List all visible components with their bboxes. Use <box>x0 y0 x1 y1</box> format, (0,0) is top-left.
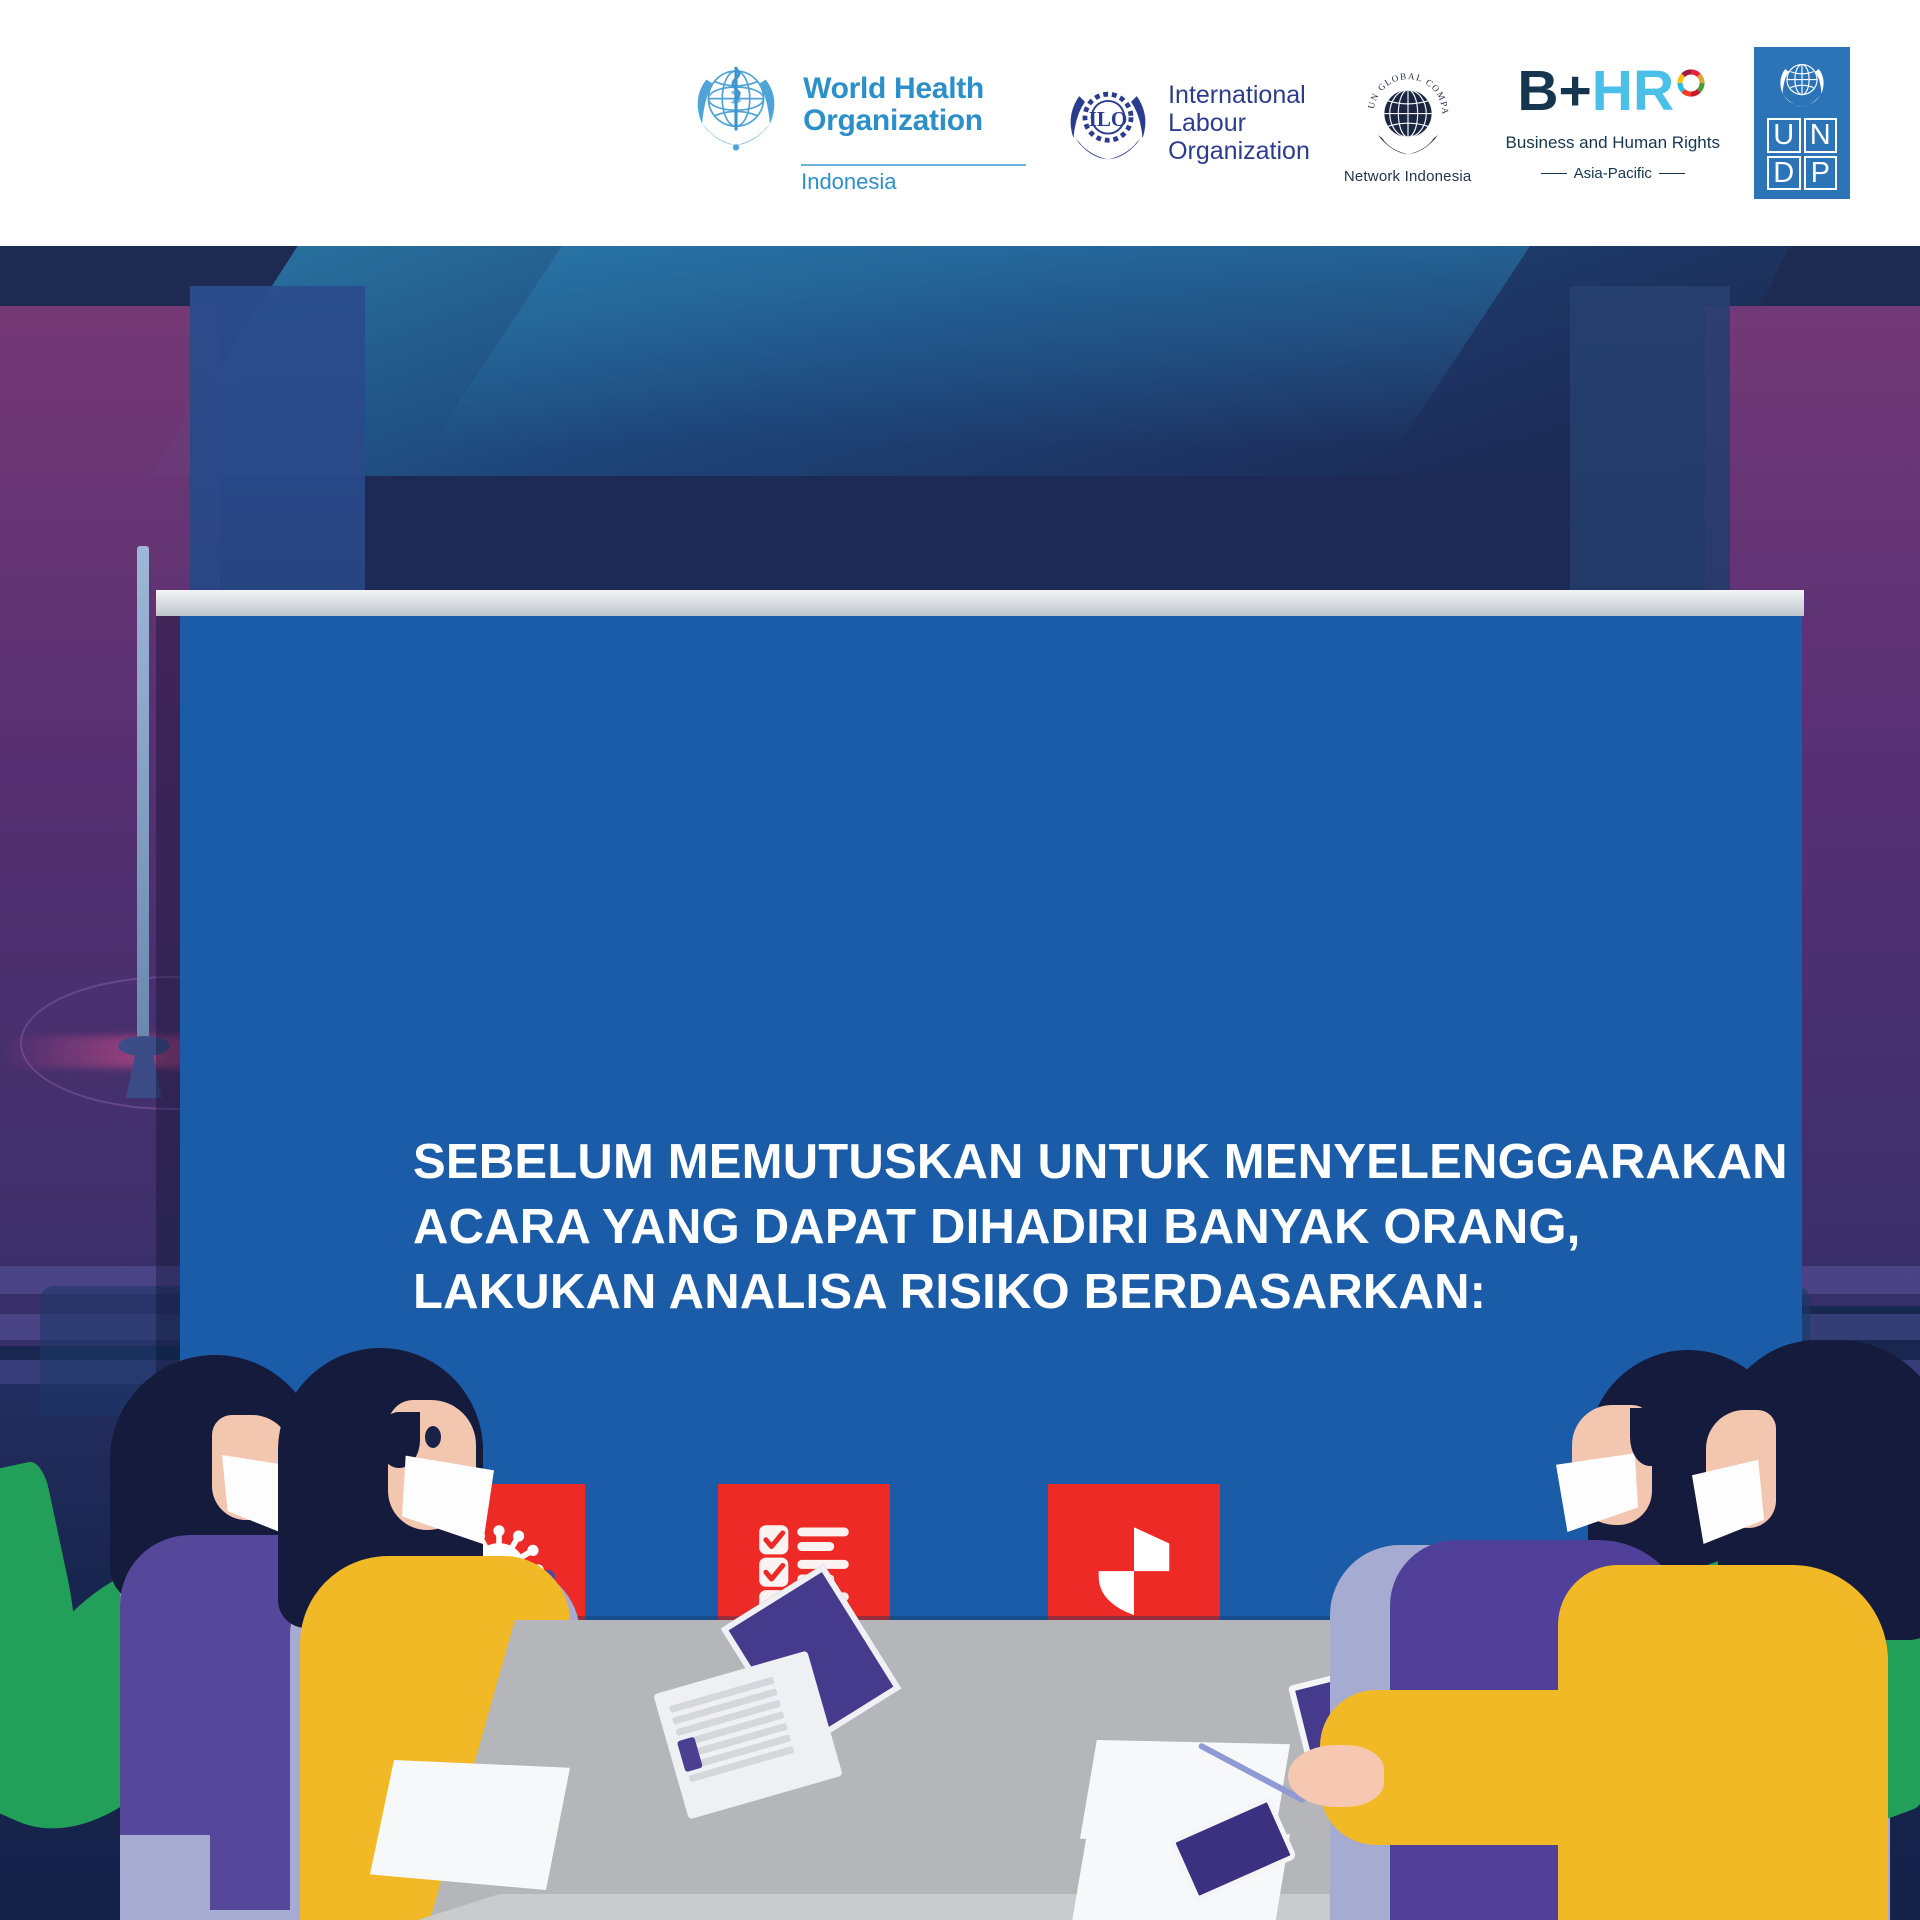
undp-logo: U N D P <box>1754 47 1850 199</box>
headline-line-2: ACARA YANG DAPAT DIHADIRI BANYAK ORANG, <box>413 1195 1773 1260</box>
bhr-subtitle: Business and Human Rights <box>1505 133 1720 153</box>
infographic-page: World Health Organization Indonesia <box>0 0 1920 1920</box>
bhr-region: Asia-Pacific <box>1534 165 1692 182</box>
wall-light-panel-inner <box>430 246 1530 446</box>
foreground-illustration <box>0 1360 1920 1920</box>
undp-letter-n: N <box>1804 118 1838 152</box>
ungc-caption: Network Indonesia <box>1344 168 1472 185</box>
conference-room-scene: 25 24 SEBELUM MEMUTUSKAN UNTUK MENYELENG… <box>0 246 1920 1920</box>
who-line2: Organization <box>803 105 984 136</box>
sdg-wheel-icon <box>1674 66 1708 100</box>
slide-headline: SEBELUM MEMUTUSKAN UNTUK MENYELENGGARAKA… <box>413 1130 1773 1325</box>
ilo-line3: Organization <box>1168 137 1310 165</box>
un-global-compact-logo: UN GLOBAL COMPACT Network Indonesia <box>1344 62 1472 185</box>
ilo-line1: International <box>1168 81 1310 109</box>
svg-text:ILO: ILO <box>1089 107 1128 131</box>
undp-letter-d: D <box>1767 156 1801 190</box>
who-divider <box>801 164 1026 166</box>
headline-line-1: SEBELUM MEMUTUSKAN UNTUK MENYELENGGARAKA… <box>413 1130 1773 1195</box>
hair-lock <box>1630 1408 1670 1466</box>
bhr-asia-pacific-logo: B+ HR <box>1505 64 1720 181</box>
bhr-mark-b: B+ <box>1517 64 1591 118</box>
undp-letter-u: U <box>1767 118 1801 152</box>
floor-lamp-pole <box>137 546 149 1046</box>
partner-logo-bar: World Health Organization Indonesia <box>0 0 1920 246</box>
who-logo: World Health Organization Indonesia <box>683 52 1026 195</box>
who-line1: World Health <box>803 73 984 104</box>
bhr-mark-hr: HR <box>1592 64 1674 118</box>
globe-icon: UN GLOBAL COMPACT <box>1354 62 1462 164</box>
ilo-line2: Labour <box>1168 109 1310 137</box>
ilo-emblem-icon: ILO <box>1060 75 1156 171</box>
undp-letter-p: P <box>1804 156 1838 190</box>
who-country: Indonesia <box>801 169 896 195</box>
undp-letter-grid: U N D P <box>1767 118 1837 190</box>
hand <box>1288 1745 1384 1807</box>
ilo-logo: ILO International Labour Organization <box>1060 75 1310 171</box>
screen-top-bar <box>156 590 1804 616</box>
paper-sheet <box>370 1760 570 1890</box>
who-emblem-icon <box>683 52 789 158</box>
eye-icon <box>418 1422 448 1452</box>
headline-line-3: LAKUKAN ANALISA RISIKO BERDASARKAN: <box>413 1260 1773 1325</box>
un-emblem-icon <box>1771 54 1833 114</box>
